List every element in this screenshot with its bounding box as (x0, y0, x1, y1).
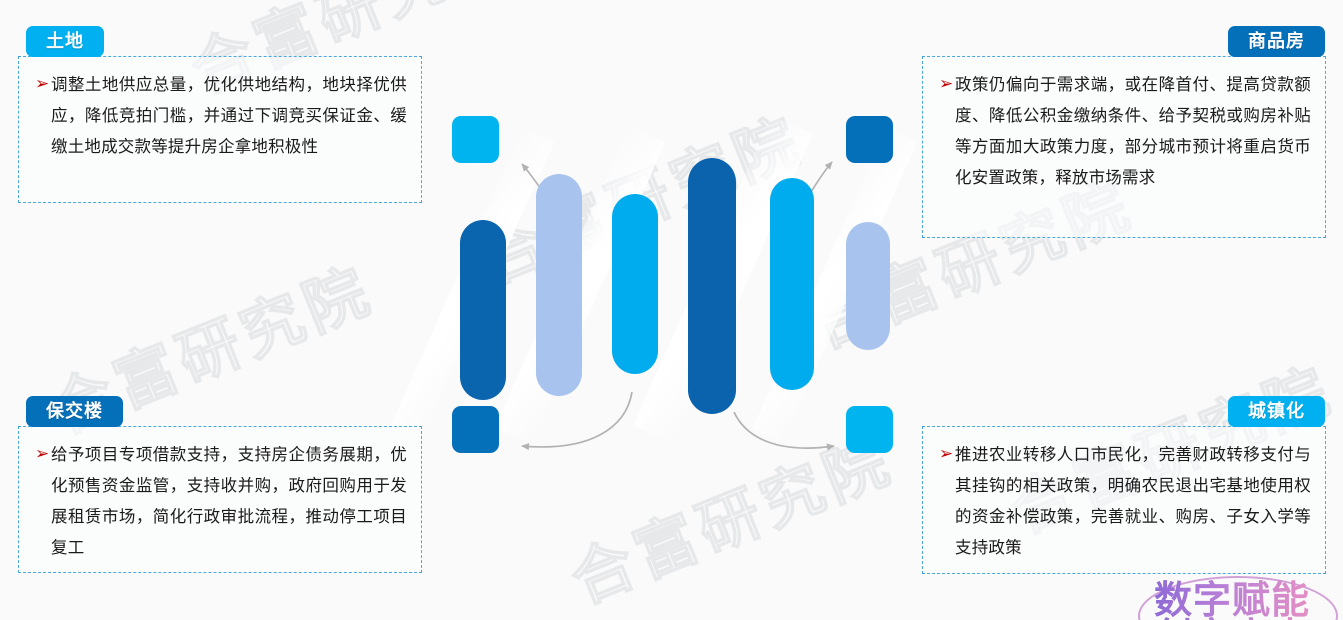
bar-1 (460, 220, 506, 400)
badge-urbanization: 城镇化 (1228, 396, 1325, 427)
bar-3 (612, 194, 658, 374)
bar-4 (688, 158, 736, 414)
bar-6 (846, 222, 890, 350)
arrow-bullet-icon: ➢ (933, 439, 955, 469)
bar-2 (536, 174, 582, 396)
badge-commercial-housing: 商品房 (1228, 26, 1325, 57)
logo-line-1: 数字赋能 (1154, 572, 1310, 620)
arrow-bullet-icon: ➢ (933, 69, 955, 99)
panel-land: ➢ 调整土地供应总量，优化供地结构，地块择优供应，降低竞拍门槛，并通过下调竞买保… (18, 56, 422, 203)
panel-urbanization: ➢ 推进农业转移人口市民化，完善财政转移支付与其挂钩的相关政策，明确农民退出宅基… (922, 426, 1326, 574)
arrow-bullet-icon: ➢ (29, 439, 51, 469)
brand-logo: 数字赋能 创变未来 (1138, 572, 1343, 620)
panel-commercial-housing-text: 政策仍偏向于需求端，或在降首付、提高贷款额度、降低公积金缴纳条件、给予契税或购房… (955, 69, 1311, 193)
slide-canvas: 合富研究院 合富研究院 合富研究院 合富研究院 合富研究院 合富研究院 (0, 0, 1343, 620)
panel-ensure-delivery-text: 给予项目专项借款支持，支持房企债务展期，优化预售资金监管，支持收并购，政府回购用… (51, 439, 407, 563)
panel-urbanization-text: 推进农业转移人口市民化，完善财政转移支付与其挂钩的相关政策，明确农民退出宅基地使… (955, 439, 1311, 563)
badge-ensure-delivery: 保交楼 (26, 396, 123, 427)
logo-swoosh-icon (1138, 576, 1338, 620)
arrow-bullet-icon: ➢ (29, 69, 51, 99)
square-top-left (452, 116, 499, 163)
badge-land: 土地 (26, 26, 104, 57)
logo-line-2: 创变未来 (1154, 606, 1310, 620)
square-bottom-right (846, 406, 893, 453)
panel-ensure-delivery: ➢ 给予项目专项借款支持，支持房企债务展期，优化预售资金监管，支持收并购，政府回… (18, 426, 422, 573)
panel-land-text: 调整土地供应总量，优化供地结构，地块择优供应，降低竞拍门槛，并通过下调竞买保证金… (51, 69, 407, 162)
square-bottom-left (452, 406, 499, 453)
bar-5 (770, 178, 814, 390)
arrow-down-right (734, 412, 834, 448)
panel-commercial-housing: ➢ 政策仍偏向于需求端，或在降首付、提高贷款额度、降低公积金缴纳条件、给予契税或… (922, 56, 1326, 238)
arrow-down-left (522, 392, 632, 447)
bar-cluster-graphic (430, 90, 920, 480)
square-top-right (846, 116, 893, 163)
